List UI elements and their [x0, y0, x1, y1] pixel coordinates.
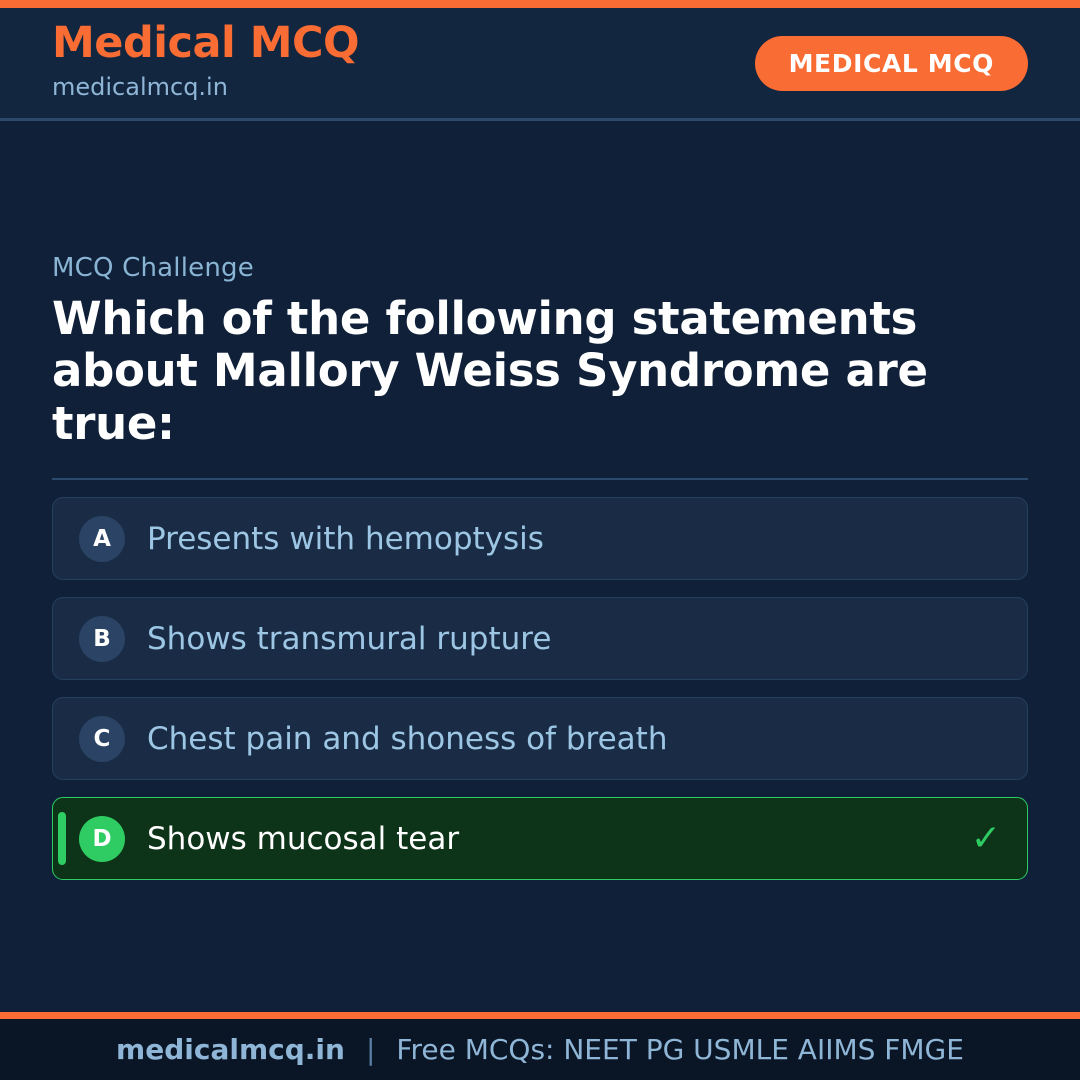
correct-accent-bar: [58, 812, 66, 865]
mcq-card: Medical MCQ medicalmcq.in MEDICAL MCQ MC…: [0, 0, 1080, 1080]
footer: medicalmcq.in | Free MCQs: NEET PG USMLE…: [0, 1019, 1080, 1080]
question-divider: [52, 478, 1028, 480]
option-c[interactable]: C Chest pain and shoness of breath ✓: [52, 697, 1028, 780]
brand-block: Medical MCQ medicalmcq.in: [52, 21, 359, 104]
option-d[interactable]: D Shows mucosal tear ✓: [52, 797, 1028, 880]
option-letter-badge: A: [79, 516, 125, 562]
option-label: Shows transmural rupture: [147, 622, 957, 656]
main-content: MCQ Challenge Which of the following sta…: [0, 121, 1080, 1012]
option-letter-badge: D: [79, 816, 125, 862]
option-label: Shows mucosal tear: [147, 822, 957, 856]
option-a[interactable]: A Presents with hemoptysis ✓: [52, 497, 1028, 580]
footer-accent-bar: [0, 1012, 1080, 1019]
footer-exams-label: Free MCQs: NEET PG USMLE AIIMS FMGE: [396, 1033, 964, 1066]
question-text: Which of the following statements about …: [52, 293, 1028, 451]
brand-subtitle: medicalmcq.in: [52, 69, 359, 105]
option-b[interactable]: B Shows transmural rupture ✓: [52, 597, 1028, 680]
footer-site-label: medicalmcq.in: [116, 1033, 345, 1066]
brand-title: Medical MCQ: [52, 21, 359, 66]
option-letter-badge: B: [79, 616, 125, 662]
eyebrow-label: MCQ Challenge: [52, 253, 1028, 283]
option-label: Presents with hemoptysis: [147, 522, 957, 556]
footer-separator: |: [358, 1033, 383, 1066]
options-list: A Presents with hemoptysis ✓ B Shows tra…: [52, 497, 1028, 880]
header-badge: MEDICAL MCQ: [755, 36, 1028, 91]
top-accent-bar: [0, 0, 1080, 8]
option-letter-badge: C: [79, 716, 125, 762]
check-icon: ✓: [971, 821, 1001, 857]
option-label: Chest pain and shoness of breath: [147, 722, 957, 756]
header: Medical MCQ medicalmcq.in MEDICAL MCQ: [0, 8, 1080, 121]
